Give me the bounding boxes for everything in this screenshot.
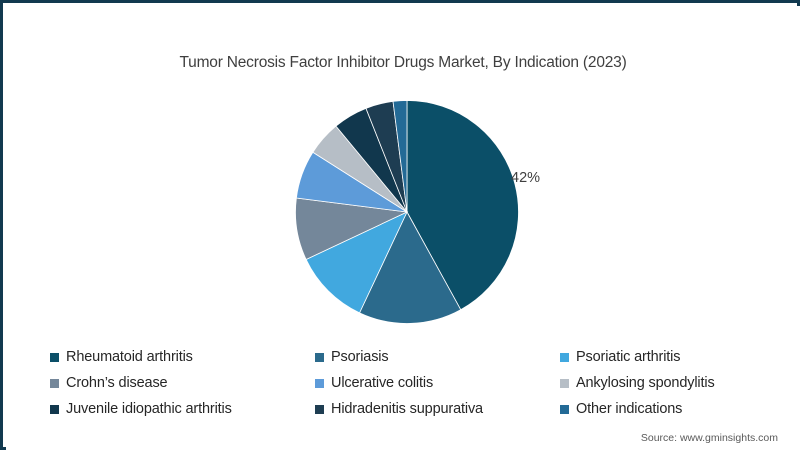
legend-item-rheumatoid-arthritis[interactable]: Rheumatoid arthritis [50,349,315,365]
pie-chart [295,100,519,324]
legend-item-label: Ankylosing spondylitis [576,375,715,391]
legend-swatch-icon [315,379,324,388]
legend-item-other-indications[interactable]: Other indications [560,401,760,417]
chart-canvas: Tumor Necrosis Factor Inhibitor Drugs Ma… [6,6,800,450]
pie-chart-svg [295,100,519,324]
legend-row: Rheumatoid arthritis Psoriasis Psoriatic… [50,344,760,370]
legend-swatch-icon [50,405,59,414]
legend-swatch-icon [560,379,569,388]
legend-item-psoriatic-arthritis[interactable]: Psoriatic arthritis [560,349,760,365]
legend-item-juvenile-idiopathic-arthritis[interactable]: Juvenile idiopathic arthritis [50,401,315,417]
legend-item-label: Other indications [576,401,682,417]
legend-item-hidradenitis-suppurativa[interactable]: Hidradenitis suppurativa [315,401,560,417]
legend-row: Crohn’s disease Ulcerative colitis Ankyl… [50,370,760,396]
legend-item-label: Ulcerative colitis [331,375,433,391]
chart-legend: Rheumatoid arthritis Psoriasis Psoriatic… [50,344,760,422]
legend-item-psoriasis[interactable]: Psoriasis [315,349,560,365]
legend-swatch-icon [50,353,59,362]
legend-swatch-icon [315,353,324,362]
legend-item-label: Rheumatoid arthritis [66,349,193,365]
chart-frame: Tumor Necrosis Factor Inhibitor Drugs Ma… [0,0,800,450]
legend-swatch-icon [560,405,569,414]
legend-swatch-icon [50,379,59,388]
legend-item-ulcerative-colitis[interactable]: Ulcerative colitis [315,375,560,391]
legend-item-label: Psoriatic arthritis [576,349,680,365]
legend-item-crohns-disease[interactable]: Crohn’s disease [50,375,315,391]
legend-item-ankylosing-spondylitis[interactable]: Ankylosing spondylitis [560,375,760,391]
legend-swatch-icon [315,405,324,414]
legend-item-label: Crohn’s disease [66,375,167,391]
source-attribution: Source: www.gminsights.com [641,432,778,444]
legend-item-label: Psoriasis [331,349,388,365]
legend-row: Juvenile idiopathic arthritis Hidradenit… [50,396,760,422]
legend-swatch-icon [560,353,569,362]
chart-title: Tumor Necrosis Factor Inhibitor Drugs Ma… [6,54,800,72]
legend-item-label: Juvenile idiopathic arthritis [66,401,232,417]
legend-item-label: Hidradenitis suppurativa [331,401,483,417]
pie-slice-label-rheumatoid-arthritis: 42% [511,170,540,186]
